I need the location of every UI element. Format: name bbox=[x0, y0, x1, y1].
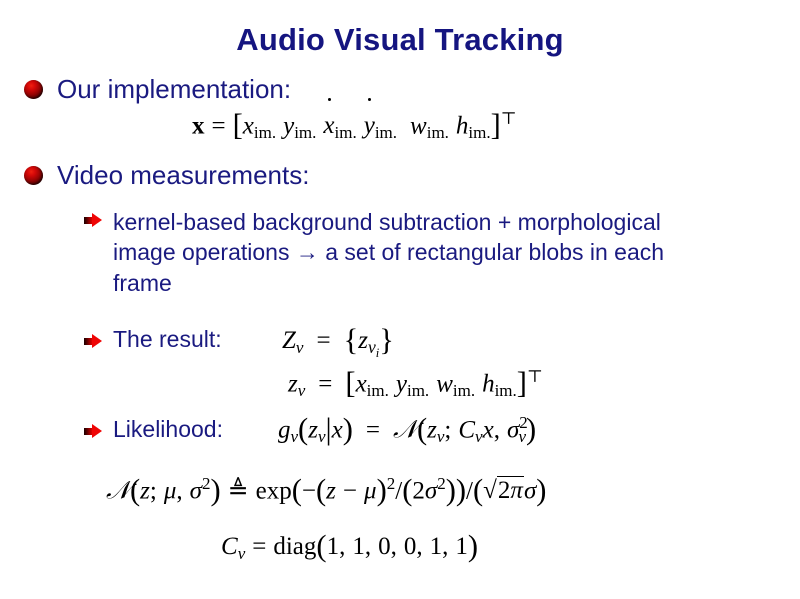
equation-gaussian-definition: 𝒩(z;μ,σ2)≜exp(−(z−μ)2/(2σ2))/(√2πσ) bbox=[106, 475, 546, 506]
red-arrow-bullet-icon bbox=[84, 213, 102, 228]
equation-state-vector: x=[xim.yim.xim.yim.wim.him.]⊤ bbox=[192, 110, 517, 141]
bullet-our-implementation: Our implementation: bbox=[24, 76, 291, 102]
bullet-label: Video measurements: bbox=[57, 162, 309, 188]
subbullet-label: Likelihood: bbox=[113, 418, 223, 441]
slide-canvas: Audio Visual Tracking Our implementation… bbox=[0, 0, 800, 599]
subbullet-kernel-based: kernel-based background subtraction + mo… bbox=[84, 207, 724, 298]
red-sphere-bullet-icon bbox=[24, 166, 43, 185]
equation-likelihood: gv(zv|x)=𝒩(zv;Cvx,σ2v) bbox=[278, 414, 536, 445]
subbullet-the-result: The result: bbox=[84, 328, 222, 351]
red-sphere-bullet-icon bbox=[24, 80, 43, 99]
equation-cv-matrix: Cv=diag(1,1,0,0,1,1) bbox=[221, 531, 478, 562]
red-arrow-bullet-icon bbox=[84, 424, 102, 439]
subbullet-likelihood: Likelihood: bbox=[84, 418, 223, 441]
equation-measurement-vector: zv=[xim.yim.wim.him.]⊤ bbox=[288, 368, 543, 399]
subbullet-label: The result: bbox=[113, 328, 222, 351]
subbullet-text: kernel-based background subtraction + mo… bbox=[113, 207, 723, 298]
red-arrow-bullet-icon bbox=[84, 334, 102, 349]
equation-result-set: Zv={zvi} bbox=[282, 325, 394, 359]
bullet-video-measurements: Video measurements: bbox=[24, 162, 309, 188]
bullet-label: Our implementation: bbox=[57, 76, 291, 102]
page-title: Audio Visual Tracking bbox=[0, 22, 800, 58]
